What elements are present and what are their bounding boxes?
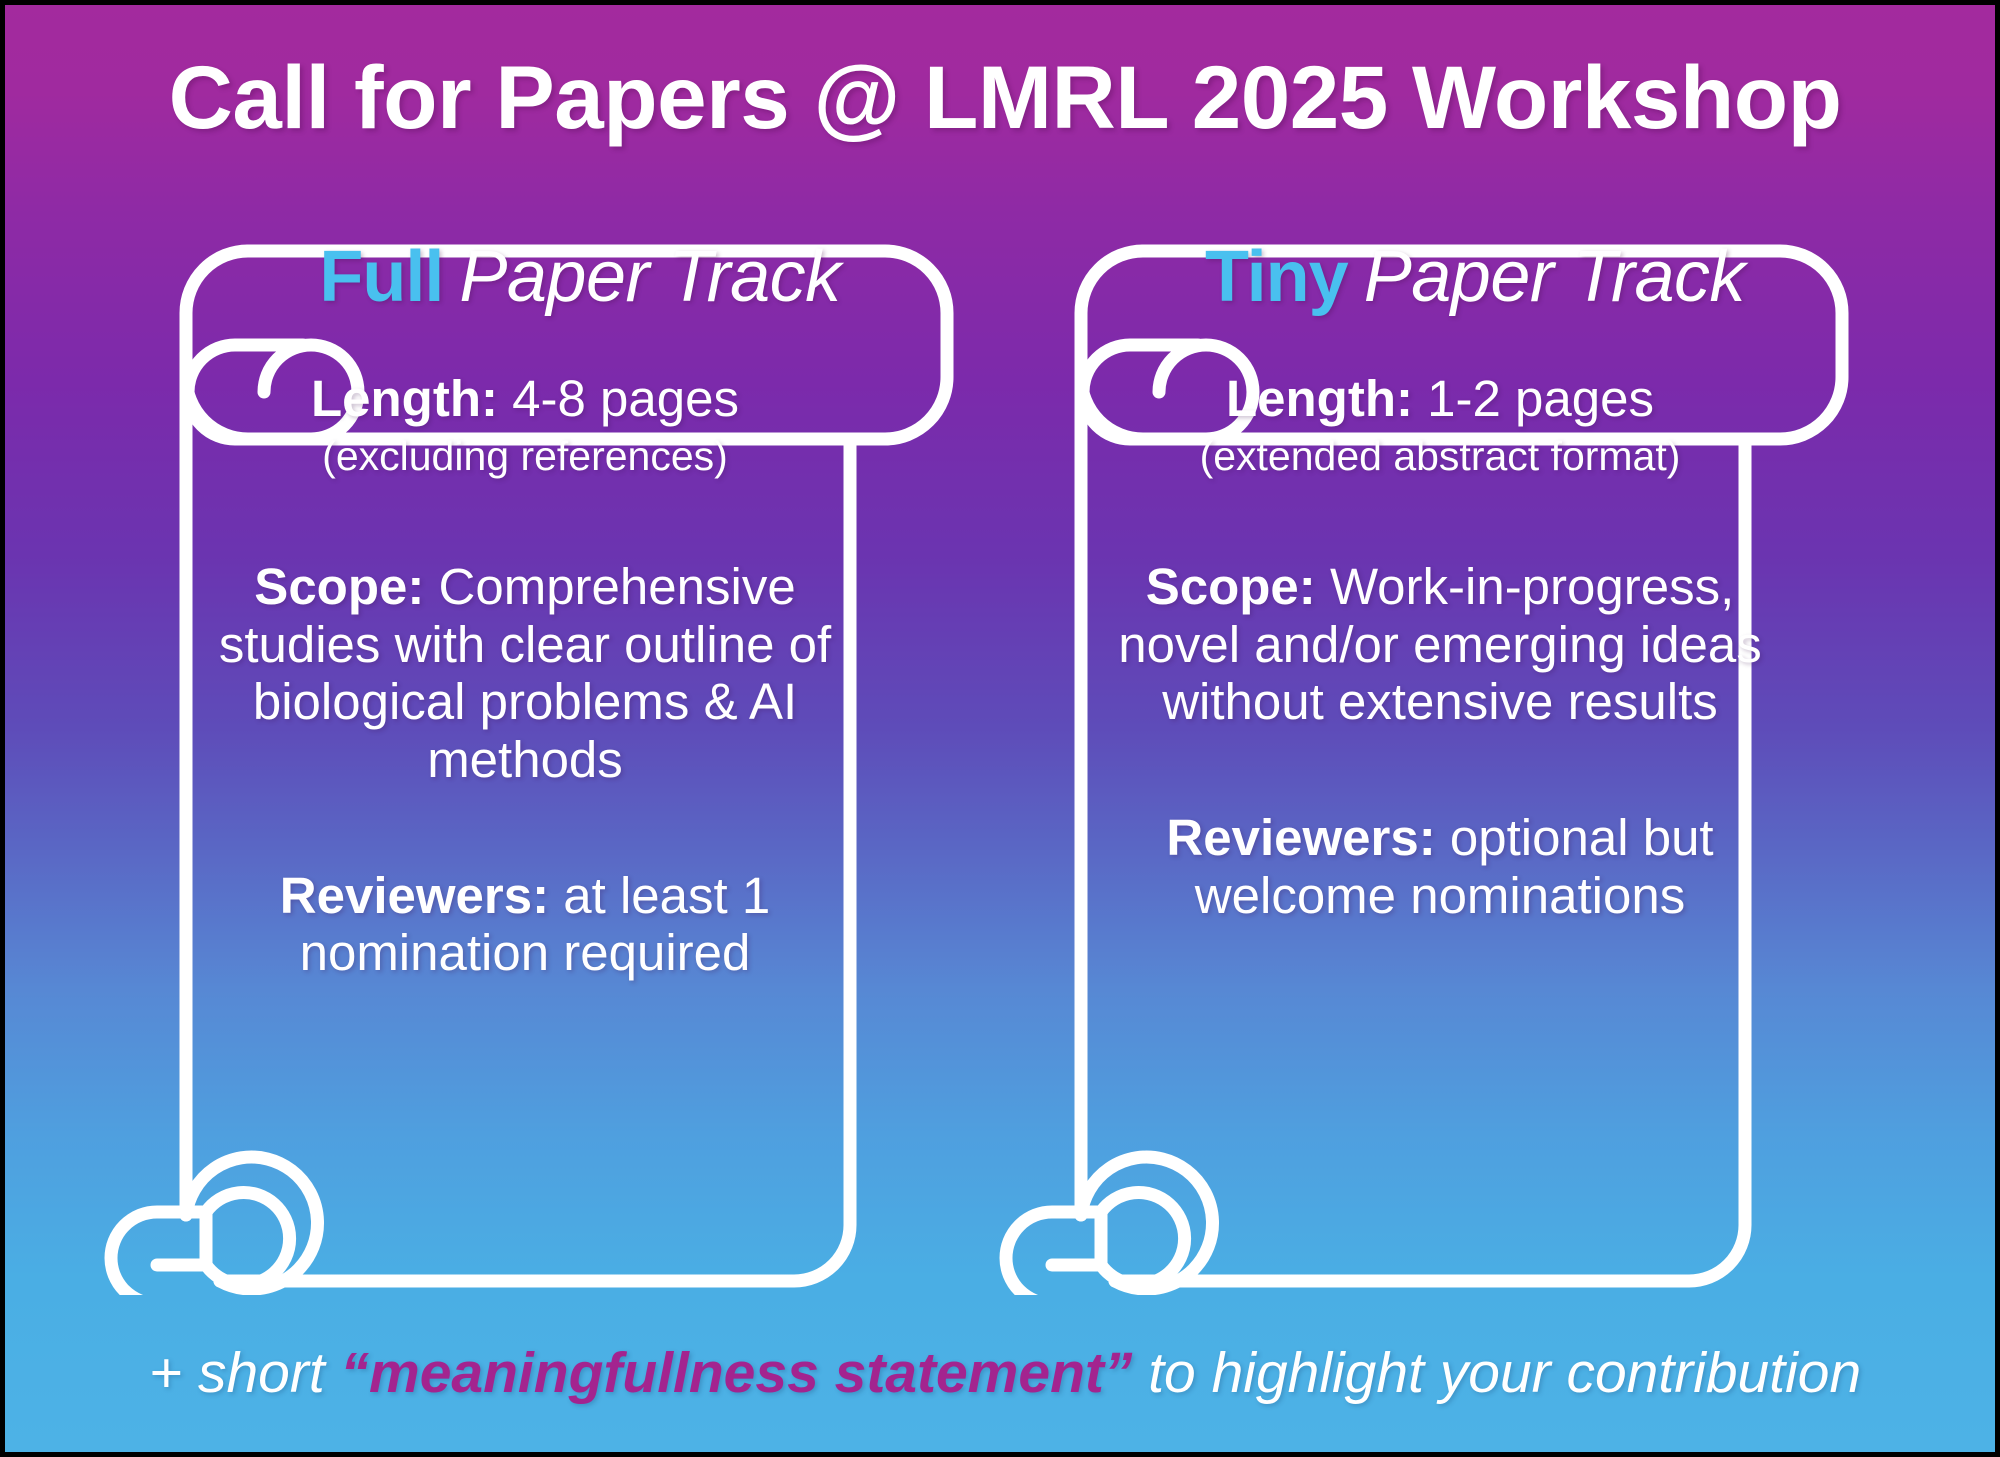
tiny-reviewers-line: Reviewers: optional but welcome nominati…: [1090, 809, 1790, 924]
full-reviewers-line: Reviewers: at least 1 nomination require…: [185, 867, 865, 982]
tiny-paper-track-card: Tiny Paper Track Length: 1-2 pages (exte…: [940, 185, 1900, 1295]
tiny-length-sub: (extended abstract format): [1090, 432, 1790, 480]
full-length-value: 4-8 pages: [498, 370, 739, 427]
tiny-reviewers-block: Reviewers: optional but welcome nominati…: [1090, 809, 1790, 924]
track-keyword: Tiny: [1205, 236, 1348, 318]
tiny-reviewers-label: Reviewers:: [1166, 809, 1435, 866]
track-title-rest: Paper Track: [459, 236, 840, 318]
footer-highlight: “meaningfullness statement”: [341, 1341, 1133, 1405]
full-reviewers-block: Reviewers: at least 1 nomination require…: [185, 867, 865, 982]
footer-note: + short “meaningfullness statement” to h…: [5, 1340, 2000, 1406]
full-paper-track-body: Length: 4-8 pages (excluding references)…: [185, 370, 865, 982]
poster-canvas: Call for Papers @ LMRL 2025 Workshop: [0, 0, 2000, 1457]
full-length-line: Length: 4-8 pages: [185, 370, 865, 428]
full-reviewers-label: Reviewers:: [280, 867, 549, 924]
tiny-length-label: Length:: [1226, 370, 1413, 427]
full-length-sub: (excluding references): [185, 432, 865, 480]
full-paper-track-card: Full Paper Track Length: 4-8 pages (excl…: [45, 185, 1005, 1295]
footer-suffix: to highlight your contribution: [1132, 1341, 1861, 1405]
full-scope-block: Scope: Comprehensive studies with clear …: [185, 558, 865, 789]
page-title: Call for Papers @ LMRL 2025 Workshop: [5, 53, 2000, 142]
tiny-length-value: 1-2 pages: [1413, 370, 1654, 427]
full-scope-label: Scope:: [254, 558, 424, 615]
full-scope-line: Scope: Comprehensive studies with clear …: [185, 558, 865, 789]
tiny-scope-label: Scope:: [1146, 558, 1316, 615]
tiny-scope-block: Scope: Work-in-progress, novel and/or em…: [1090, 558, 1790, 731]
full-paper-track-title: Full Paper Track: [195, 217, 965, 337]
tiny-length-block: Length: 1-2 pages (extended abstract for…: [1090, 370, 1790, 480]
track-keyword: Full: [319, 236, 443, 318]
track-title-rest: Paper Track: [1364, 236, 1745, 318]
tiny-paper-track-body: Length: 1-2 pages (extended abstract for…: [1090, 370, 1790, 924]
tiny-paper-track-title: Tiny Paper Track: [1090, 217, 1860, 337]
tiny-scope-line: Scope: Work-in-progress, novel and/or em…: [1090, 558, 1790, 731]
full-length-label: Length:: [311, 370, 498, 427]
footer-prefix: + short: [149, 1341, 341, 1405]
tiny-length-line: Length: 1-2 pages: [1090, 370, 1790, 428]
full-length-block: Length: 4-8 pages (excluding references): [185, 370, 865, 480]
